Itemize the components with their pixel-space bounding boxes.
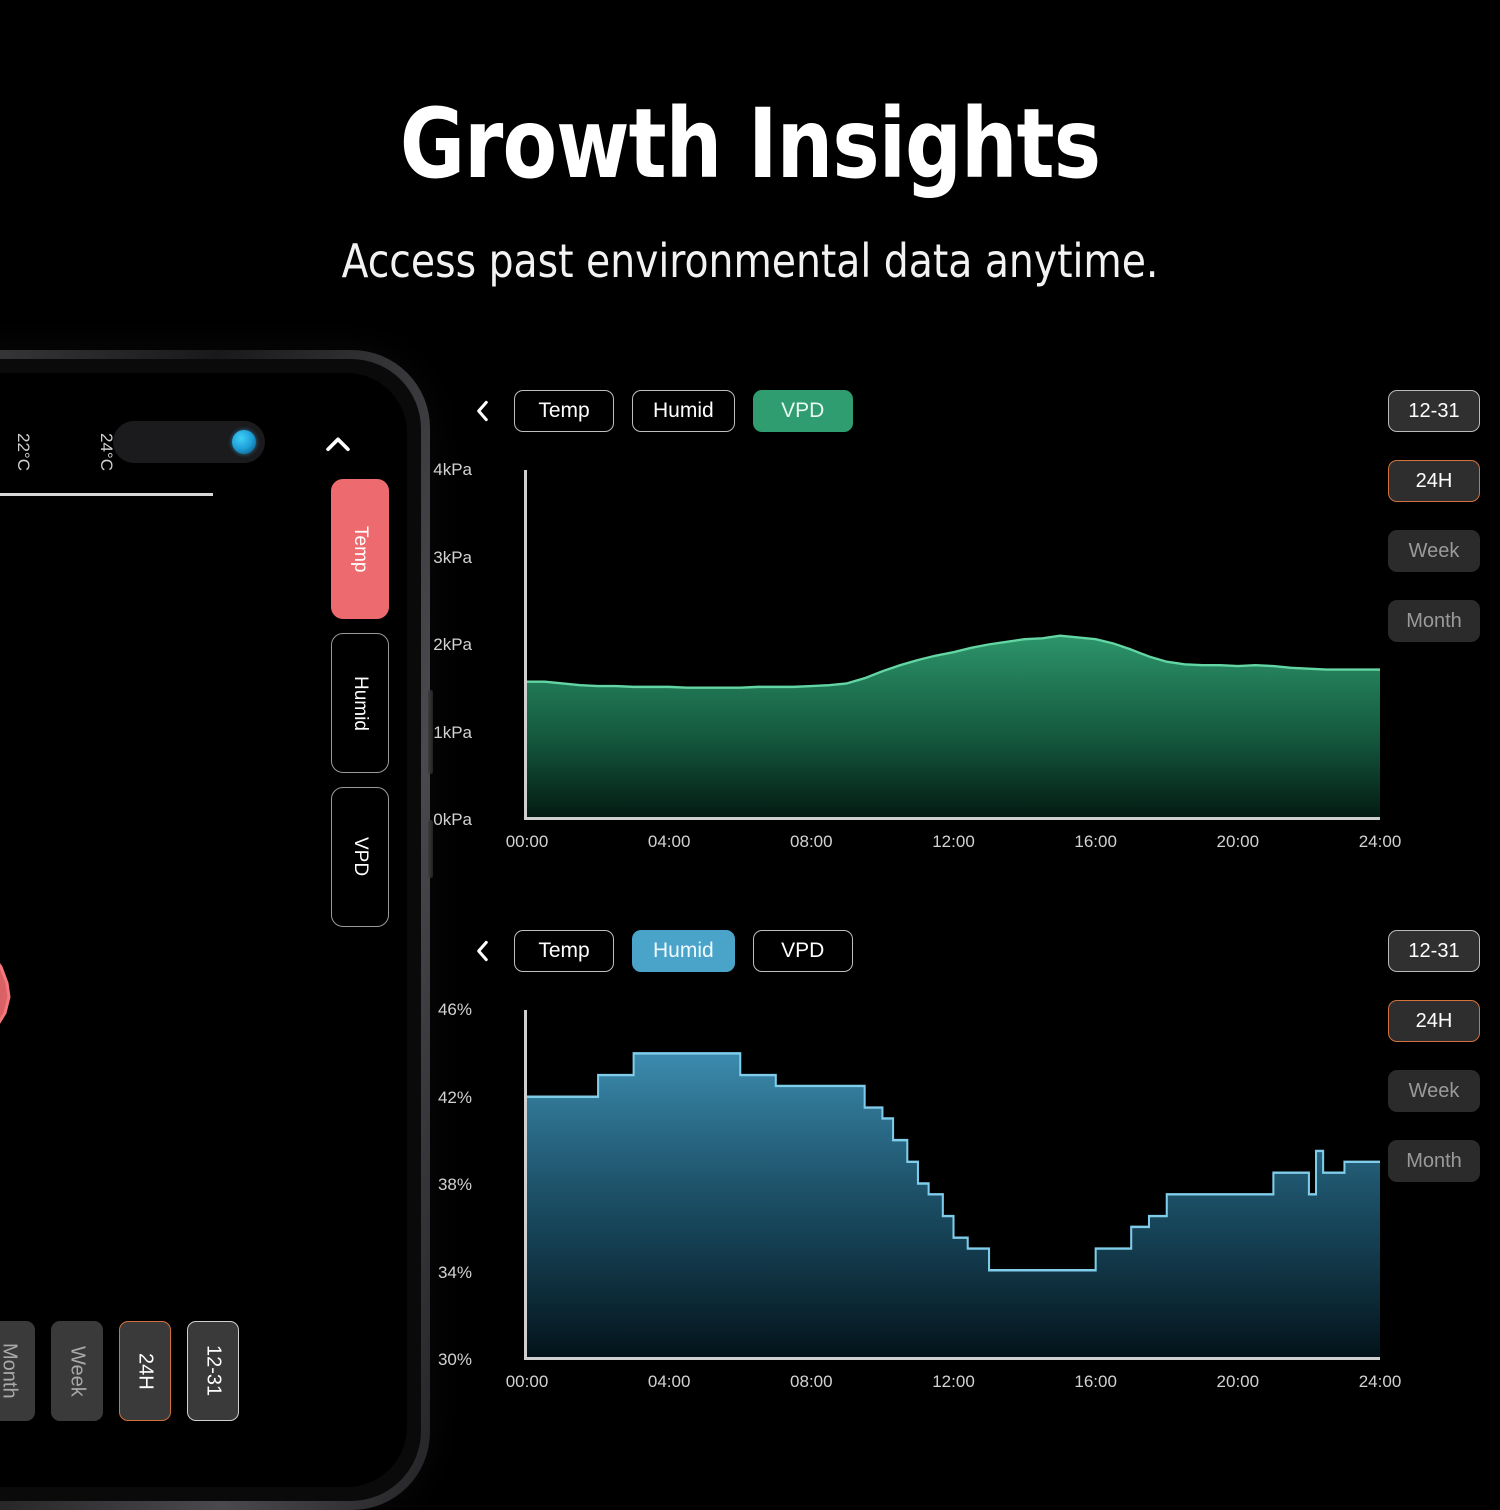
humid-range-24h-label: 24H <box>1416 1010 1453 1033</box>
humidity-chart-ytick-0: 30% <box>438 1350 472 1370</box>
vpd-range-week[interactable]: Week <box>1388 530 1480 572</box>
vpd-plot: 0kPa1kPa2kPa3kPa4kPa 00:0004:0008:0012:0… <box>480 470 1380 820</box>
vpd-range-24h-label: 24H <box>1416 470 1453 493</box>
phone-tab-temp[interactable]: Temp <box>331 479 389 619</box>
humidity-chart-xtick-6: 24:00 <box>1359 1372 1402 1392</box>
vpd-x-axis <box>524 817 1380 820</box>
phone-range-month[interactable]: Month <box>0 1321 35 1421</box>
humid-range-month-label: Month <box>1406 1150 1462 1173</box>
humidity-chart-ytick-4: 46% <box>438 1000 472 1020</box>
vpd-range-date-label: 12-31 <box>1408 400 1459 423</box>
vpd-tab-temp[interactable]: Temp <box>514 390 614 432</box>
humidity-chart-ytick-2: 38% <box>438 1175 472 1195</box>
vpd-tab-humid-label: Humid <box>653 399 714 423</box>
humidity-chart-xtick-4: 16:00 <box>1074 1372 1117 1392</box>
vpd-range-month[interactable]: Month <box>1388 600 1480 642</box>
humid-range-date[interactable]: 12-31 <box>1388 930 1480 972</box>
phone-mockup: 18°C 20°C 22°C 24°C <box>0 350 430 1510</box>
vpd-range-date[interactable]: 12-31 <box>1388 390 1480 432</box>
humid-range-week[interactable]: Week <box>1388 1070 1480 1112</box>
vpd-chart-xtick-3: 12:00 <box>932 832 975 852</box>
vpd-metric-tabs: Temp Humid VPD <box>470 390 853 432</box>
vpd-chart-ytick-4: 4kPa <box>433 460 472 480</box>
phone-frame: 18°C 20°C 22°C 24°C <box>0 350 430 1510</box>
phone-range-24h-label: 24H <box>134 1353 157 1390</box>
phone-axis-tick-2: 22°C <box>13 433 33 471</box>
humidity-chart-xtick-2: 08:00 <box>790 1372 833 1392</box>
humidity-chart-xtick-1: 04:00 <box>648 1372 691 1392</box>
humid-tab-humid[interactable]: Humid <box>632 930 735 972</box>
humid-range-month[interactable]: Month <box>1388 1140 1480 1182</box>
humid-range-date-label: 12-31 <box>1408 940 1459 963</box>
vpd-chart-xtick-5: 20:00 <box>1217 832 1260 852</box>
vpd-tab-vpd-label: VPD <box>781 399 824 423</box>
humidity-chart-ytick-3: 42% <box>438 1088 472 1108</box>
vpd-chart-xtick-1: 04:00 <box>648 832 691 852</box>
page-subtitle: Access past environmental data anytime. <box>38 234 1463 288</box>
humidity-plot-area <box>527 1010 1380 1357</box>
phone-tab-vpd[interactable]: VPD <box>331 787 389 927</box>
vpd-range-week-label: Week <box>1409 540 1460 563</box>
vpd-tab-vpd[interactable]: VPD <box>753 390 853 432</box>
phone-range-month-label: Month <box>0 1343 21 1399</box>
humid-tab-temp-label: Temp <box>538 939 589 963</box>
humidity-chart-xtick-5: 20:00 <box>1217 1372 1260 1392</box>
humid-tab-humid-label: Humid <box>653 939 714 963</box>
phone-range-week-label: Week <box>66 1346 89 1397</box>
humidity-chart-xtick-3: 12:00 <box>932 1372 975 1392</box>
phone-tab-humid[interactable]: Humid <box>331 633 389 773</box>
humid-range-24h[interactable]: 24H <box>1388 1000 1480 1042</box>
vpd-range-24h[interactable]: 24H <box>1388 460 1480 502</box>
vpd-chart-xtick-0: 00:00 <box>506 832 549 852</box>
chevron-up-icon[interactable] <box>321 428 355 462</box>
phone-range-date-label: 12-31 <box>202 1345 225 1396</box>
humid-tab-vpd[interactable]: VPD <box>753 930 853 972</box>
phone-tab-vpd-label: VPD <box>349 837 371 876</box>
humid-x-axis <box>524 1357 1380 1360</box>
humidity-plot: 30%34%38%42%46% 00:0004:0008:0012:0016:0… <box>480 1010 1380 1360</box>
vpd-chart-xtick-4: 16:00 <box>1074 832 1117 852</box>
vpd-chart-ytick-1: 1kPa <box>433 723 472 743</box>
chevron-left-icon[interactable] <box>470 936 496 966</box>
vpd-chart-xtick-2: 08:00 <box>790 832 833 852</box>
header: Growth Insights Access past environmenta… <box>0 0 1500 288</box>
phone-tab-humid-label: Humid <box>349 676 371 731</box>
dynamic-island <box>113 421 265 463</box>
chevron-left-icon[interactable] <box>470 396 496 426</box>
phone-tab-temp-label: Temp <box>349 526 371 572</box>
humidity-panel: Temp Humid VPD 12-31 24H Week Month 30%3… <box>470 930 1480 1390</box>
front-camera-icon <box>232 430 256 454</box>
humidity-chart-xtick-0: 00:00 <box>506 1372 549 1392</box>
vpd-range-month-label: Month <box>1406 610 1462 633</box>
phone-range-buttons: Month Week 24H 12-31 <box>0 1321 407 1421</box>
phone-power-button[interactable] <box>428 820 433 878</box>
humid-range-week-label: Week <box>1409 1080 1460 1103</box>
vpd-chart-ytick-0: 0kPa <box>433 810 472 830</box>
phone-screen: 18°C 20°C 22°C 24°C <box>0 373 407 1487</box>
humid-metric-tabs: Temp Humid VPD <box>470 930 853 972</box>
vpd-range-buttons: 12-31 24H Week Month <box>1388 390 1480 670</box>
phone-bezel: 18°C 20°C 22°C 24°C <box>0 359 421 1501</box>
vpd-chart-xtick-6: 24:00 <box>1359 832 1402 852</box>
phone-temp-chart <box>0 499 53 1399</box>
phone-metric-tabs: Temp Humid VPD <box>331 479 389 941</box>
humid-range-buttons: 12-31 24H Week Month <box>1388 930 1480 1210</box>
vpd-chart-ytick-2: 2kPa <box>433 635 472 655</box>
humid-tab-temp[interactable]: Temp <box>514 930 614 972</box>
page-title: Growth Insights <box>60 96 1440 192</box>
vpd-tab-humid[interactable]: Humid <box>632 390 735 432</box>
vpd-panel: Temp Humid VPD 12-31 24H Week Month 0kPa… <box>470 390 1480 850</box>
phone-temp-axis-line <box>0 493 213 496</box>
phone-range-date[interactable]: 12-31 <box>187 1321 239 1421</box>
vpd-plot-area <box>527 470 1380 817</box>
phone-volume-button[interactable] <box>428 690 433 774</box>
vpd-tab-temp-label: Temp <box>538 399 589 423</box>
humid-tab-vpd-label: VPD <box>781 939 824 963</box>
vpd-chart-ytick-3: 3kPa <box>433 548 472 568</box>
phone-range-24h[interactable]: 24H <box>119 1321 171 1421</box>
phone-range-week[interactable]: Week <box>51 1321 103 1421</box>
humidity-chart-ytick-1: 34% <box>438 1263 472 1283</box>
